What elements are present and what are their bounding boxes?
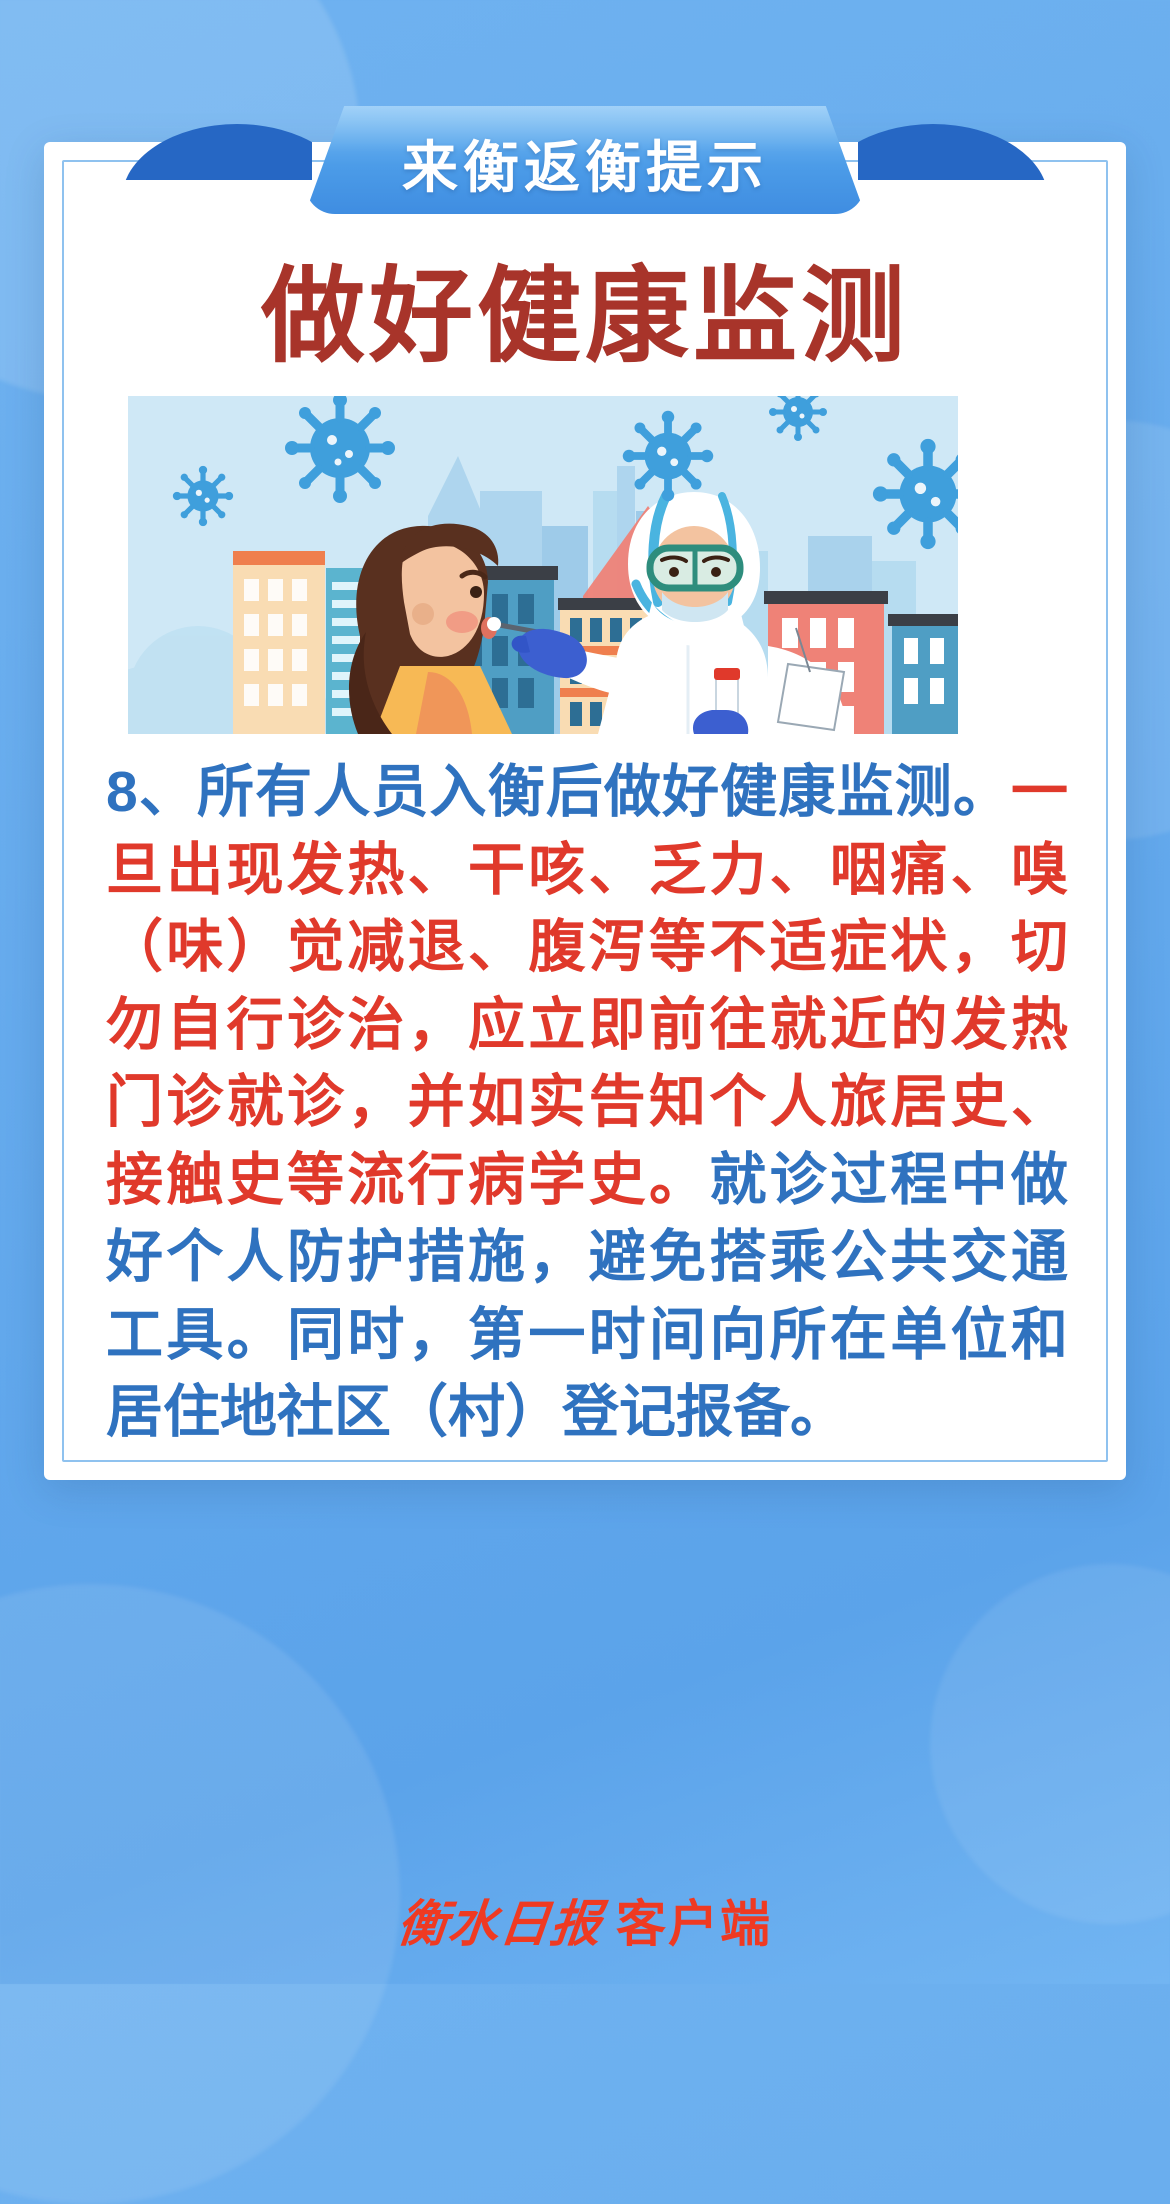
ribbon-banner: 来衡返衡提示 bbox=[305, 106, 865, 214]
app-name: 客户端 bbox=[616, 1884, 772, 1956]
illustration bbox=[128, 396, 958, 734]
footer: 衡水日报客户端 bbox=[0, 1884, 1170, 1956]
header-ribbon: 来衡返衡提示 bbox=[44, 106, 1126, 226]
background-blob bbox=[930, 1564, 1170, 1924]
ribbon-notch-left bbox=[122, 180, 312, 206]
poster-card: 来衡返衡提示 做好健康监测 bbox=[44, 142, 1126, 1480]
ribbon-notch-right bbox=[858, 180, 1048, 206]
illustration-svg bbox=[128, 396, 958, 734]
body-segment-warning: 一旦出现发热、干咳、乏力、咽痛、嗅（味）觉减退、腹泻等不适症状，切勿自行诊治，应… bbox=[106, 760, 1068, 1212]
publisher-logo: 衡水日报 bbox=[394, 1884, 606, 1956]
page-title: 做好健康监测 bbox=[44, 260, 1126, 374]
banner-title: 来衡返衡提示 bbox=[402, 124, 768, 196]
body-paragraph: 8、所有人员入衡后做好健康监测。一旦出现发热、干咳、乏力、咽痛、嗅（味）觉减退、… bbox=[106, 754, 1068, 1452]
body-segment-intro: 8、所有人员入衡后做好健康监测。 bbox=[106, 760, 1011, 824]
